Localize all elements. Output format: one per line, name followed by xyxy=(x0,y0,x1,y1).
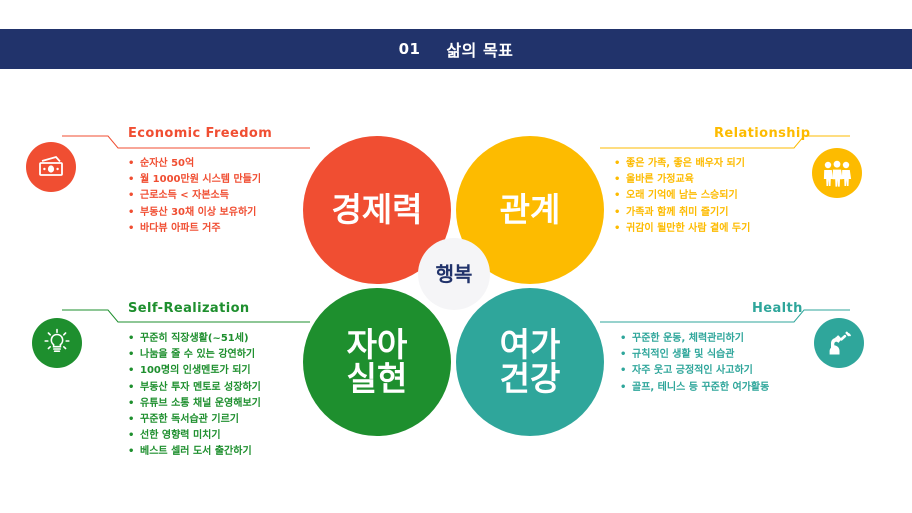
list-item: 꾸준히 직장생활(~51세) xyxy=(126,331,261,347)
list-item: 규칙적인 생활 및 식습관 xyxy=(618,347,769,363)
bullet-list-economic-freedom: 순자산 50억월 1000만원 시스템 만들기근로소득 < 자본소득부동산 30… xyxy=(126,156,261,237)
list-item: 골프, 테니스 등 꾸준한 여가활동 xyxy=(618,380,769,396)
quadrant-title-relationship: Relationship xyxy=(714,126,810,141)
list-item: 100명의 인생멘토가 되기 xyxy=(126,363,261,379)
list-item: 가족과 함께 취미 즐기기 xyxy=(612,205,750,221)
cash-icon xyxy=(26,142,76,192)
quadrant-title-economic-freedom: Economic Freedom xyxy=(128,126,272,141)
bullet-list-relationship: 좋은 가족, 좋은 배우자 되기올바른 가정교육오래 기억에 남는 스승되기가족… xyxy=(612,156,750,237)
slide-header-bar: 01 삶의 목표 xyxy=(0,29,912,69)
list-item: 꾸준한 독서습관 기르기 xyxy=(126,412,261,428)
lightbulb-icon xyxy=(32,318,82,368)
list-item: 부동산 투자 멘토로 성장하기 xyxy=(126,380,261,396)
bullet-list-self-realization: 꾸준히 직장생활(~51세)나눔을 줄 수 있는 강연하기100명의 인생멘토가… xyxy=(126,331,261,461)
list-item: 귀감이 될만한 사람 곁에 두기 xyxy=(612,221,750,237)
list-item: 바다뷰 아파트 거주 xyxy=(126,221,261,237)
list-item: 좋은 가족, 좋은 배우자 되기 xyxy=(612,156,750,172)
list-item: 순자산 50억 xyxy=(126,156,261,172)
list-item: 베스트 셀러 도서 출간하기 xyxy=(126,444,261,460)
list-item: 근로소득 < 자본소득 xyxy=(126,188,261,204)
circle-happiness-label: 행복 xyxy=(436,264,473,284)
circle-relationship-label: 관계 xyxy=(500,193,561,227)
list-item: 나눔을 줄 수 있는 강연하기 xyxy=(126,347,261,363)
quadrant-title-health: Health xyxy=(752,301,803,316)
list-item: 월 1000만원 시스템 만들기 xyxy=(126,172,261,188)
list-item: 부동산 30채 이상 보유하기 xyxy=(126,205,261,221)
list-item: 유튜브 소통 채널 운영해보기 xyxy=(126,396,261,412)
circle-self-realization[interactable]: 자아 실현 xyxy=(303,288,451,436)
circle-health-label: 여가 건강 xyxy=(500,328,561,395)
circle-self-realization-label: 자아 실현 xyxy=(347,328,408,395)
list-item: 자주 웃고 긍정적인 사고하기 xyxy=(618,363,769,379)
bullet-list-health: 꾸준한 운동, 체력관리하기규칙적인 생활 및 식습관자주 웃고 긍정적인 사고… xyxy=(618,331,769,396)
list-item: 꾸준한 운동, 체력관리하기 xyxy=(618,331,769,347)
circle-health[interactable]: 여가 건강 xyxy=(456,288,604,436)
people-group-icon xyxy=(812,148,862,198)
circle-happiness-center[interactable]: 행복 xyxy=(418,238,490,310)
list-item: 오래 기억에 남는 스승되기 xyxy=(612,188,750,204)
circle-economic-freedom-label: 경제력 xyxy=(331,193,422,227)
list-item: 선한 영향력 미치기 xyxy=(126,428,261,444)
quadrant-title-self-realization: Self-Realization xyxy=(128,301,250,316)
muscle-dumbbell-icon xyxy=(814,318,864,368)
list-item: 올바른 가정교육 xyxy=(612,172,750,188)
slide-number: 01 xyxy=(399,40,421,58)
slide-title: 삶의 목표 xyxy=(446,37,513,61)
